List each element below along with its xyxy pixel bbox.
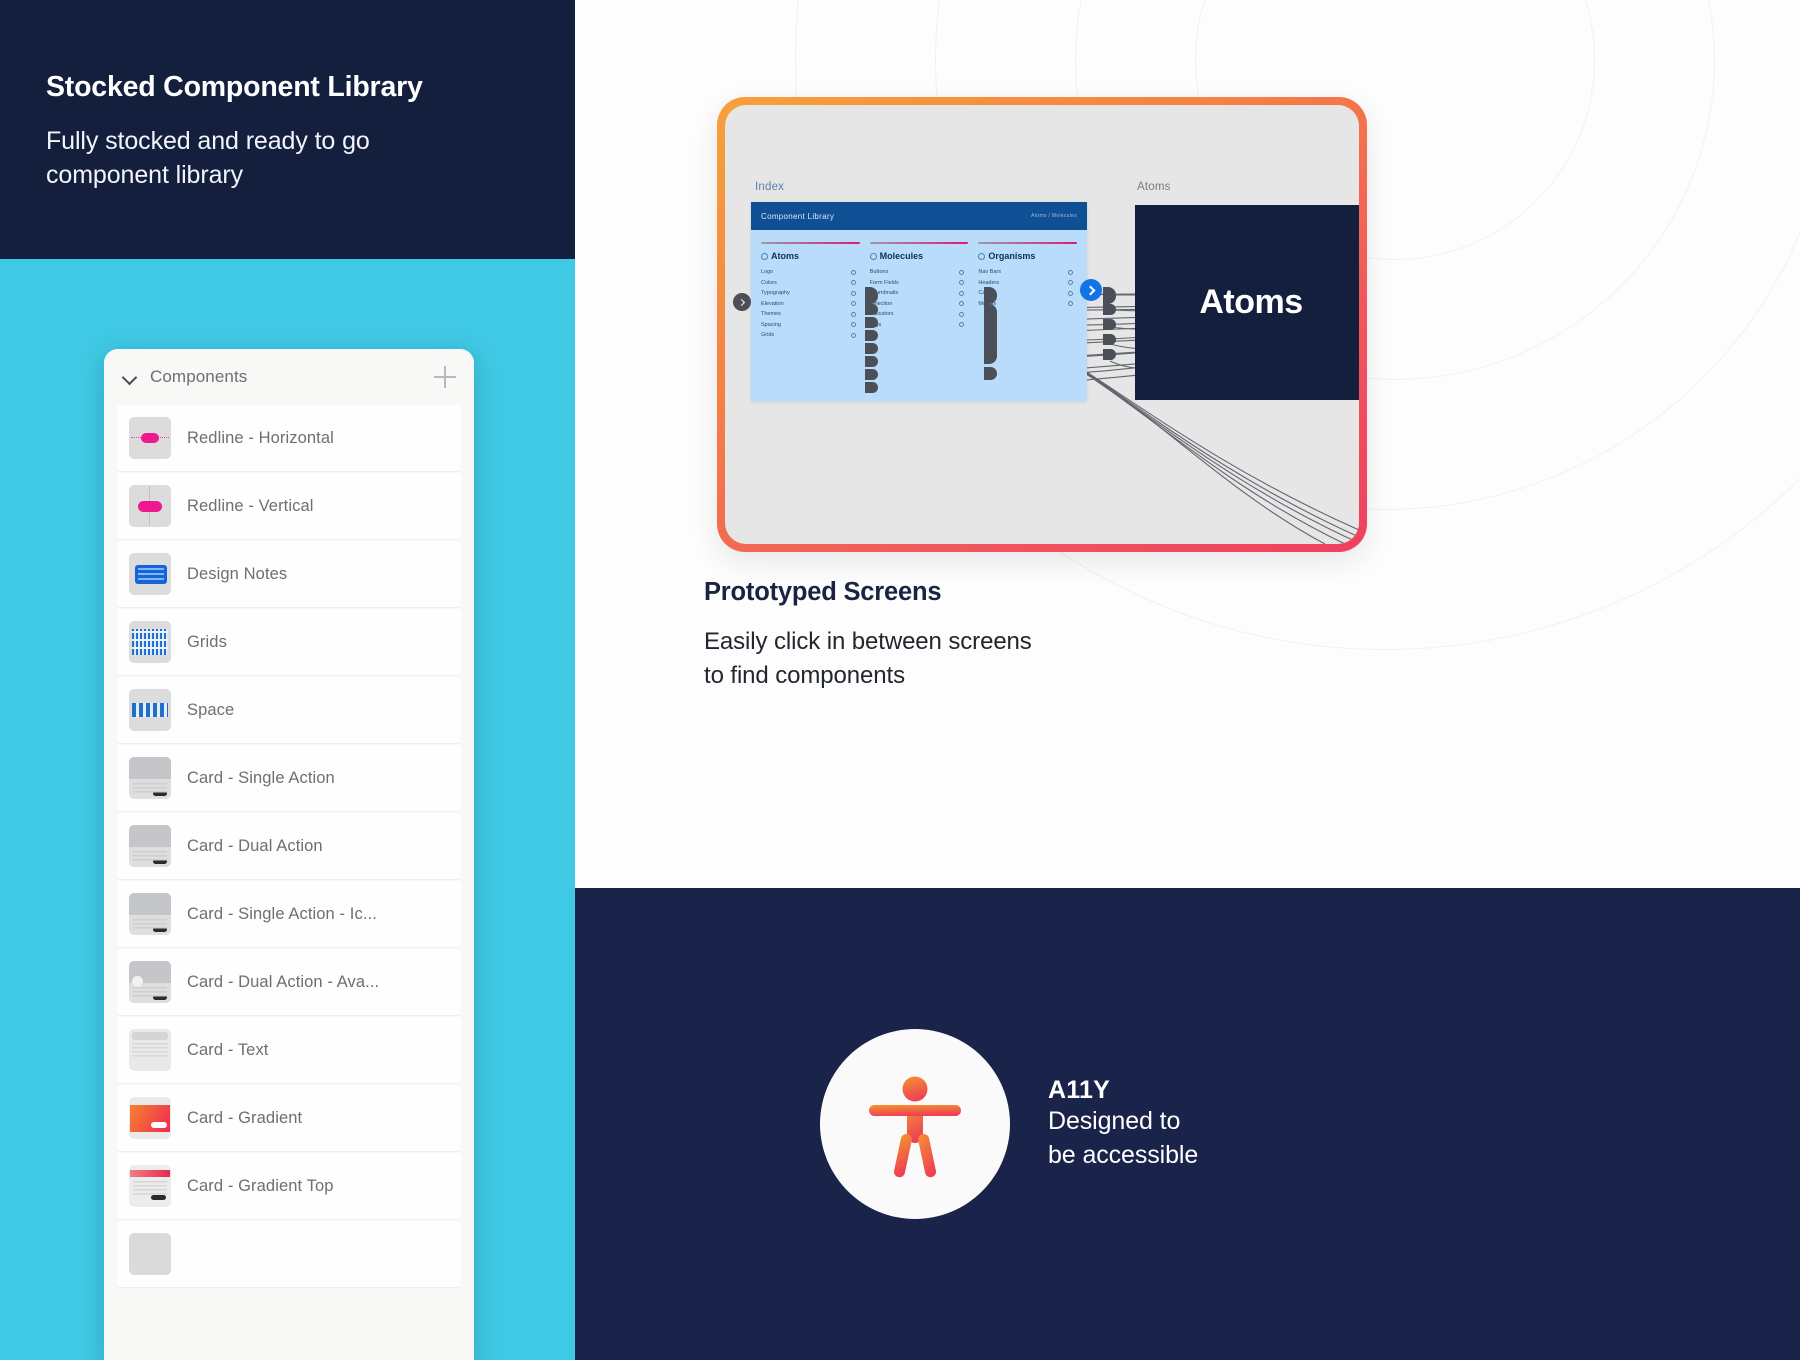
screen-columns: Atoms Logo Colors Typography Elevation T… [751, 230, 1087, 341]
accessibility-line-2: be accessible [1048, 1139, 1198, 1172]
list-item[interactable]: Card - Single Action - Ic... [117, 881, 461, 947]
prototype-card[interactable]: Index Atoms [717, 97, 1367, 552]
list-item-label: Redline - Vertical [187, 497, 314, 516]
prototype-caption-body: Easily click in between screens to find … [704, 625, 1032, 694]
accessibility-title: A11Y [1048, 1076, 1198, 1105]
hero-subtitle-line-1: Fully stocked and ready to go [46, 124, 529, 158]
column-heading-label: Atoms [771, 251, 799, 261]
column-item[interactable]: Buttons [870, 267, 969, 278]
components-panel: Components Redline - Horizontal Redline … [104, 349, 474, 1360]
list-item-label: Card - Dual Action [187, 837, 323, 856]
column-item-label: Spacing [761, 322, 781, 328]
list-item-label: Card - Single Action [187, 769, 335, 788]
prototype-screen-atoms[interactable]: Atoms [1135, 205, 1359, 400]
screen-column-atoms: Atoms Logo Colors Typography Elevation T… [761, 242, 860, 341]
redline-vertical-thumb-icon [129, 485, 171, 527]
list-item[interactable]: Card - Dual Action [117, 813, 461, 879]
space-thumb-icon [129, 689, 171, 731]
column-heading[interactable]: Organisms [978, 251, 1077, 261]
card-thumb-icon [129, 757, 171, 799]
column-item[interactable]: Nav Bars [978, 267, 1077, 278]
accessibility-line-1: Designed to [1048, 1105, 1198, 1138]
hero-subtitle-line-2: component library [46, 158, 529, 192]
components-panel-title: Components [150, 367, 421, 387]
column-item-label: Buttons [870, 269, 889, 275]
list-item-label: Card - Gradient [187, 1109, 302, 1128]
accessibility-person-icon [855, 1064, 975, 1184]
next-screen-hotspot-icon[interactable] [1080, 279, 1102, 301]
hotspot-pin-icon[interactable] [1103, 349, 1116, 360]
column-item-label: Colors [761, 280, 777, 286]
column-item[interactable]: Selection [870, 299, 969, 310]
list-item[interactable]: Card - Text [117, 1017, 461, 1083]
column-item[interactable]: Spacing [761, 320, 860, 331]
prototype-canvas: Index Atoms [725, 105, 1359, 544]
column-item[interactable]: Colors [761, 278, 860, 289]
list-item[interactable]: Card - Single Action [117, 745, 461, 811]
components-list[interactable]: Redline - Horizontal Redline - Vertical … [104, 405, 474, 1287]
column-item-label: Logo [761, 269, 773, 275]
list-item-label: Card - Text [187, 1041, 269, 1060]
prototype-caption-line-2: to find components [704, 659, 1032, 693]
column-item-label: Themes [761, 311, 781, 317]
column-rule [870, 242, 969, 244]
card-text-thumb-icon [129, 1029, 171, 1071]
screen-topbar: Component Library Atoms / Molecules [751, 202, 1087, 230]
hotspot-pin-icon[interactable] [1103, 334, 1116, 345]
prototype-section: Index Atoms [575, 0, 1800, 888]
list-item-label: Card - Dual Action - Ava... [187, 973, 379, 992]
column-item[interactable]: Indicators [870, 309, 969, 320]
column-item[interactable]: Headers [978, 278, 1077, 289]
hotspot-pin-icon[interactable] [865, 317, 878, 328]
column-item[interactable]: Form Fields [870, 278, 969, 289]
hotspot-pin-icon[interactable] [865, 330, 878, 341]
list-item[interactable] [117, 1221, 461, 1287]
screen-column-molecules: Molecules Buttons Form Fields Thumbnails… [870, 242, 969, 341]
components-panel-header[interactable]: Components [104, 349, 474, 405]
list-item-label: Grids [187, 633, 227, 652]
hotspot-pin-icon[interactable] [1103, 304, 1116, 315]
hero-subtitle: Fully stocked and ready to go component … [46, 124, 529, 193]
card-avatar-thumb-icon [129, 961, 171, 1003]
card-gradient-top-thumb-icon [129, 1165, 171, 1207]
column-item-label: Form Fields [870, 280, 899, 286]
column-heading[interactable]: Atoms [761, 251, 860, 261]
prototype-caption-line-1: Easily click in between screens [704, 625, 1032, 659]
hotspot-pin-icon[interactable] [984, 367, 997, 380]
list-item[interactable]: Redline - Horizontal [117, 405, 461, 471]
design-notes-thumb-icon [129, 553, 171, 595]
column-item[interactable]: Themes [761, 309, 860, 320]
hotspot-pin-icon[interactable] [865, 382, 878, 393]
column-heading-label: Organisms [988, 251, 1035, 261]
hotspot-pin-icon[interactable] [865, 304, 878, 315]
column-item[interactable]: Elevation [761, 299, 860, 310]
list-item[interactable]: Design Notes [117, 541, 461, 607]
hero-section: Stocked Component Library Fully stocked … [0, 0, 575, 259]
prototype-caption-title: Prototyped Screens [704, 578, 941, 607]
column-item[interactable]: Logo [761, 267, 860, 278]
accessibility-content: A11Y Designed to be accessible [820, 888, 1198, 1360]
list-item[interactable]: Card - Dual Action - Ava... [117, 949, 461, 1015]
column-heading-label: Molecules [880, 251, 924, 261]
screen-topbar-title: Component Library [761, 212, 834, 221]
column-item[interactable]: Grids [761, 330, 860, 341]
column-item[interactable]: Typography [761, 288, 860, 299]
list-item-label: Design Notes [187, 565, 287, 584]
radio-icon [978, 253, 985, 260]
card-thumb-icon [129, 825, 171, 867]
accessibility-text: A11Y Designed to be accessible [1048, 1076, 1198, 1172]
column-item-label: Grids [761, 332, 774, 338]
hotspot-pin-icon[interactable] [865, 369, 878, 380]
column-item-label: Headers [978, 280, 999, 286]
page-root: Stocked Component Library Fully stocked … [0, 0, 1800, 1360]
prototype-screen-index[interactable]: Component Library Atoms / Molecules Atom… [751, 202, 1087, 401]
prev-screen-hotspot-icon[interactable] [733, 293, 751, 311]
hotspot-pin-icon[interactable] [1103, 319, 1116, 330]
column-rule [761, 242, 860, 244]
list-item[interactable]: Redline - Vertical [117, 473, 461, 539]
radio-icon [761, 253, 768, 260]
list-item-label: Card - Gradient Top [187, 1177, 334, 1196]
accessibility-badge [820, 1029, 1010, 1219]
hotspot-pin-icon[interactable] [984, 304, 997, 364]
card-gradient-thumb-icon [129, 1097, 171, 1139]
column-rule [978, 242, 1077, 244]
column-item-label: Elevation [761, 301, 784, 307]
plus-icon[interactable] [434, 366, 456, 388]
list-item[interactable]: Space [117, 677, 461, 743]
column-item[interactable]: Tags [870, 320, 969, 331]
hotspot-pin-icon[interactable] [865, 356, 878, 367]
list-item-label: Space [187, 701, 234, 720]
column-heading[interactable]: Molecules [870, 251, 969, 261]
list-item-label: Redline - Horizontal [187, 429, 334, 448]
cyan-background-panel: Components Redline - Horizontal Redline … [0, 259, 575, 1360]
chevron-down-icon[interactable] [123, 370, 137, 384]
hero-title: Stocked Component Library [46, 70, 529, 104]
atoms-screen-title: Atoms [1199, 283, 1302, 322]
redline-horizontal-thumb-icon [129, 417, 171, 459]
card-thumb-icon [129, 893, 171, 935]
list-item-label: Card - Single Action - Ic... [187, 905, 377, 924]
left-column: Stocked Component Library Fully stocked … [0, 0, 575, 1360]
screen-topbar-meta: Atoms / Molecules [1031, 213, 1077, 219]
list-item[interactable]: Card - Gradient [117, 1085, 461, 1151]
column-item-label: Nav Bars [978, 269, 1001, 275]
radio-icon [870, 253, 877, 260]
accessibility-section: A11Y Designed to be accessible [575, 888, 1800, 1360]
column-item[interactable]: Thumbnails [870, 288, 969, 299]
hotspot-pin-icon[interactable] [865, 343, 878, 354]
list-item[interactable]: Card - Gradient Top [117, 1153, 461, 1219]
list-item[interactable]: Grids [117, 609, 461, 675]
column-item-label: Typography [761, 290, 790, 296]
grids-thumb-icon [129, 621, 171, 663]
card-plain-thumb-icon [129, 1233, 171, 1275]
